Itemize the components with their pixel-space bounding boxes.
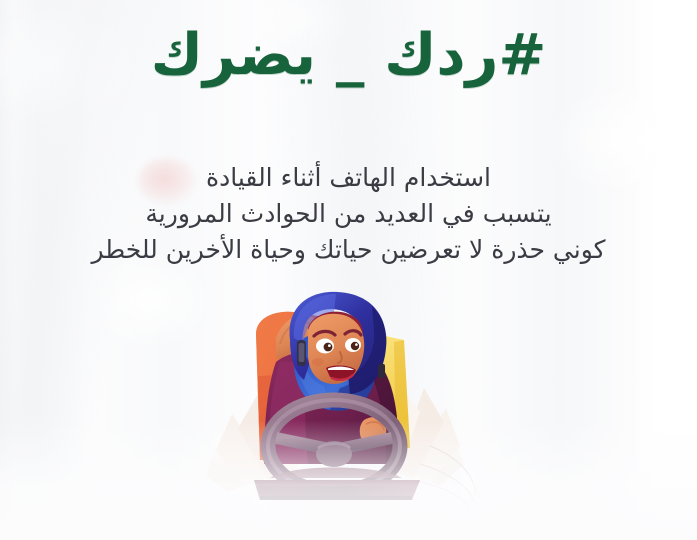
title-block: #ردك _ يضرك <box>0 24 697 88</box>
awareness-poster: #ردك _ يضرك استخدام الهاتف أثناء القيادة… <box>0 0 697 540</box>
bottom-edge-fade <box>0 420 697 540</box>
poster-title: #ردك _ يضرك <box>0 24 697 88</box>
seatbelt-buckle <box>378 364 385 378</box>
body-line-3: كوني حذرة لا تعرضين حياتك وحياة الأخرين … <box>0 232 697 268</box>
body-line-1: استخدام الهاتف أثناء القيادة <box>0 160 697 196</box>
body-line-2: يتسبب في العديد من الحوادث المرورية <box>0 196 697 232</box>
phone <box>297 340 306 366</box>
body-text-block: استخدام الهاتف أثناء القيادة يتسبب في ال… <box>0 160 697 268</box>
